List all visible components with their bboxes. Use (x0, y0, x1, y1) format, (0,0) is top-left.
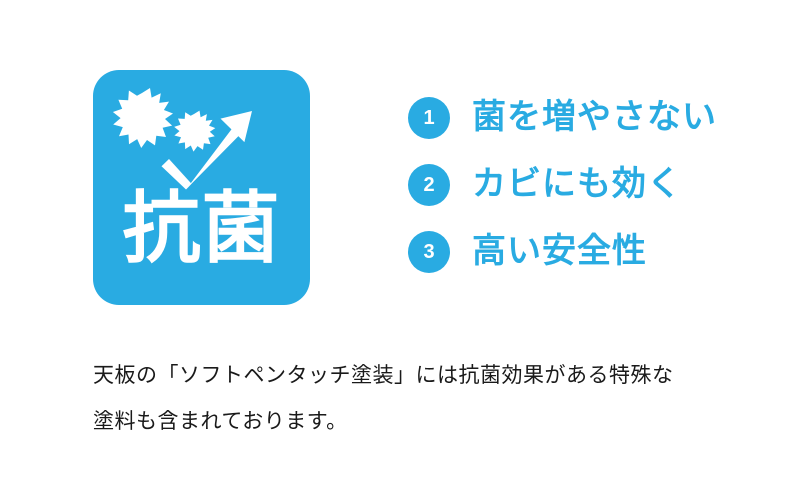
germ-small-icon (174, 111, 215, 152)
benefit-item-2: 2 カビにも効く (408, 159, 778, 211)
benefit-number-badge-1: 1 (408, 97, 450, 139)
benefit-number-badge-2: 2 (408, 164, 450, 206)
caption-paragraph: 天板の「ソフトペンタッチ塗装」には抗菌効果がある特殊な 塗料も含まれております。 (93, 352, 753, 444)
benefit-label-2: カビにも効く (472, 165, 682, 204)
badge-artwork (93, 70, 310, 200)
benefit-number-badge-3: 3 (408, 231, 450, 273)
antibacterial-feature-page: 抗菌 1 菌を増やさない 2 カビにも効く 3 高い安全性 天板の「ソフトペンタ… (0, 0, 800, 495)
benefit-label-1: 菌を増やさない (472, 98, 717, 137)
badge-label: 抗菌 (93, 190, 310, 268)
germ-large-icon (113, 88, 173, 148)
antibacterial-badge: 抗菌 (93, 70, 310, 305)
feature-block: 抗菌 1 菌を増やさない 2 カビにも効く 3 高い安全性 (0, 0, 800, 330)
benefit-label-3: 高い安全性 (472, 232, 647, 271)
caption-line-1: 天板の「ソフトペンタッチ塗装」には抗菌効果がある特殊な (93, 352, 753, 398)
caption-line-2: 塗料も含まれております。 (93, 398, 753, 444)
benefit-list: 1 菌を増やさない 2 カビにも効く 3 高い安全性 (408, 92, 778, 278)
benefit-item-3: 3 高い安全性 (408, 226, 778, 278)
benefit-item-1: 1 菌を増やさない (408, 92, 778, 144)
